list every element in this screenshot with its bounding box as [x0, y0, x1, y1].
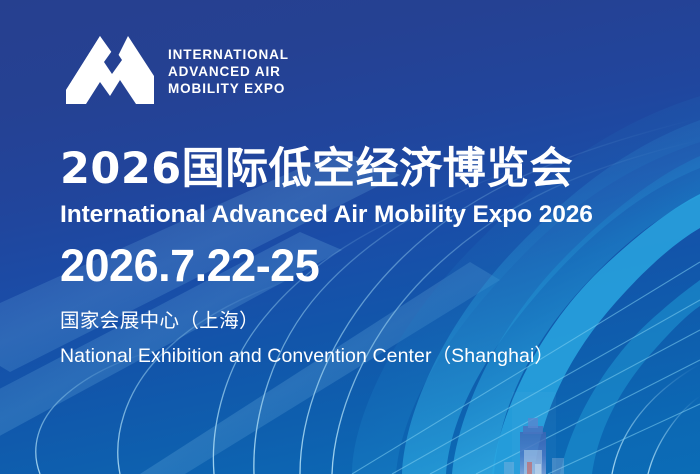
event-title-chinese: 2026国际低空经济博览会: [60, 146, 660, 192]
double-chevron-m-logo-icon: [66, 34, 154, 106]
skyline-secondary: [504, 458, 564, 474]
logo-line-3: MOBILITY EXPO: [168, 82, 289, 96]
building-tower-icon: [520, 418, 546, 474]
event-title-english: International Advanced Air Mobility Expo…: [60, 200, 660, 231]
headline-block: 2026国际低空经济博览会 International Advanced Air…: [60, 146, 660, 369]
logo-line-1: INTERNATIONAL: [168, 48, 289, 62]
logo-line-2: ADVANCED AIR: [168, 65, 289, 79]
logo-wordmark: INTERNATIONAL ADVANCED AIR MOBILITY EXPO: [168, 48, 289, 95]
venue-english: National Exhibition and Convention Cente…: [60, 344, 660, 369]
logo-lockup: INTERNATIONAL ADVANCED AIR MOBILITY EXPO: [66, 34, 289, 106]
expo-banner: INTERNATIONAL ADVANCED AIR MOBILITY EXPO…: [0, 0, 700, 474]
venue-chinese: 国家会展中心（上海）: [60, 308, 660, 333]
event-date: 2026.7.22-25: [60, 242, 660, 289]
